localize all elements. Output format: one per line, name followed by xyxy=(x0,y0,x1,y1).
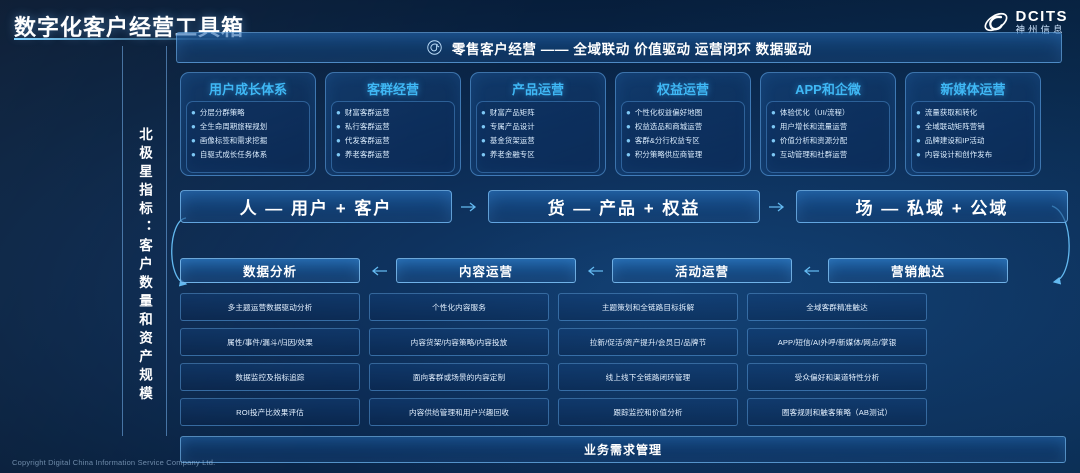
grid-cell[interactable]: 内容供给管理和用户兴趣回收 xyxy=(369,398,549,426)
card-bullet: ●流量获取和转化 xyxy=(916,107,1031,118)
card-bullet: ●全域联动矩阵营销 xyxy=(916,121,1031,132)
banner: 零售客户经营 —— 全域联动 价值驱动 运营闭环 数据驱动 xyxy=(176,32,1062,63)
arrow-left-icon xyxy=(801,265,819,277)
card-user-growth[interactable]: 用户成长体系 ●分层分群策略 ●全生命周期旅程规划 ●画像标签和需求挖掘 ●自驱… xyxy=(180,72,316,176)
grid-cell[interactable]: 多主题运营数据驱动分析 xyxy=(180,293,360,321)
card-body: ●财富产品矩阵 ●专属产品设计 ●基金货架运营 ●养老金融专区 xyxy=(476,101,600,173)
card-bullet: ●基金货架运营 xyxy=(481,135,596,146)
arrow-right-icon xyxy=(769,201,787,213)
card-bullet: ●客群&分行权益专区 xyxy=(626,135,741,146)
grid-cell[interactable]: APP/短信/AI外呼/新媒体/网点/掌银 xyxy=(747,328,927,356)
grid-cell[interactable]: 线上线下全链路闭环管理 xyxy=(558,363,738,391)
bullet-dot-icon: ● xyxy=(336,149,341,160)
card-bullet: ●价值分析和资源分配 xyxy=(771,135,886,146)
card-product-operation[interactable]: 产品运营 ●财富产品矩阵 ●专属产品设计 ●基金货架运营 ●养老金融专区 xyxy=(470,72,606,176)
card-bullet: ●代发客群运营 xyxy=(336,135,451,146)
card-app-wecom[interactable]: APP和企微 ●体验优化（UI/流程） ●用户增长和流量运营 ●价值分析和资源分… xyxy=(760,72,896,176)
pillars-row: 人 — 用户 + 客户 货 — 产品 + 权益 场 — 私域 + 公域 xyxy=(180,190,1068,223)
grid-cell[interactable]: 圈客规则和触客策略（AB测试） xyxy=(747,398,927,426)
card-bullet: ●全生命周期旅程规划 xyxy=(191,121,306,132)
bullet-dot-icon: ● xyxy=(916,135,921,146)
bullet-dot-icon: ● xyxy=(916,107,921,118)
card-bullet: ●权益选品和商城运营 xyxy=(626,121,741,132)
card-body: ●财富客群运营 ●私行客群运营 ●代发客群运营 ●养老客群运营 xyxy=(331,101,455,173)
bullet-dot-icon: ● xyxy=(481,149,486,160)
card-title: 产品运营 xyxy=(476,78,600,99)
bullet-text: 财富客群运营 xyxy=(345,107,390,118)
slide-canvas: 数字化客户经营工具箱 DCITS 神州信息 北极星指标：客户数量和资产规模 xyxy=(0,0,1080,473)
bullet-text: 价值分析和资源分配 xyxy=(780,135,847,146)
card-body: ●流量获取和转化 ●全域联动矩阵营销 ●品牌建设和IP活动 ●内容设计和创作发布 xyxy=(911,101,1035,173)
bullet-dot-icon: ● xyxy=(191,121,196,132)
grid-cell[interactable]: 数据监控及指标追踪 xyxy=(180,363,360,391)
card-bullet: ●内容设计和创作发布 xyxy=(916,149,1031,160)
card-new-media[interactable]: 新媒体运营 ●流量获取和转化 ●全域联动矩阵营销 ●品牌建设和IP活动 ●内容设… xyxy=(905,72,1041,176)
northstar-rule-left xyxy=(122,46,123,436)
bullet-text: 自驱式成长任务体系 xyxy=(200,149,267,160)
grid-cell[interactable]: 拉新/促活/资产提升/会员日/品牌节 xyxy=(558,328,738,356)
bullet-text: 品牌建设和IP活动 xyxy=(925,135,985,146)
card-title: 新媒体运营 xyxy=(911,78,1035,99)
bullet-text: 积分策略供应商管理 xyxy=(635,149,702,160)
arrow-left-icon xyxy=(369,265,387,277)
grid-cell[interactable]: ROI投产比效果评估 xyxy=(180,398,360,426)
bullet-text: 互动管理和社群运营 xyxy=(780,149,847,160)
bullet-text: 代发客群运营 xyxy=(345,135,390,146)
grid-column-campaign-operation: 主题策划和全链路目标拆解 拉新/促活/资产提升/会员日/品牌节 线上线下全链路闭… xyxy=(558,293,738,426)
copyright-text: Copyright Digital China Information Serv… xyxy=(12,458,215,467)
card-title: 用户成长体系 xyxy=(186,78,310,99)
grid-column-marketing-reach: 全域客群精准触达 APP/短信/AI外呼/新媒体/网点/掌银 受众偏好和渠道特性… xyxy=(747,293,927,426)
logo-text-en: DCITS xyxy=(1016,9,1069,24)
grid-cell[interactable]: 跟踪监控和价值分析 xyxy=(558,398,738,426)
bullet-dot-icon: ● xyxy=(336,107,341,118)
bullet-dot-icon: ● xyxy=(771,135,776,146)
bullet-text: 内容设计和创作发布 xyxy=(925,149,992,160)
bullet-dot-icon: ● xyxy=(336,121,341,132)
column-headers-row: 数据分析 内容运营 活动运营 营销触达 xyxy=(180,258,1008,283)
bullet-text: 分层分群策略 xyxy=(200,107,245,118)
card-title: 权益运营 xyxy=(621,78,745,99)
capability-grid: 多主题运营数据驱动分析 属性/事件/漏斗/归因/效果 数据监控及指标追踪 ROI… xyxy=(180,293,927,426)
card-bullet: ●专属产品设计 xyxy=(481,121,596,132)
bullet-dot-icon: ● xyxy=(916,149,921,160)
grid-cell[interactable]: 全域客群精准触达 xyxy=(747,293,927,321)
arrow-right-icon xyxy=(461,201,479,213)
bullet-dot-icon: ● xyxy=(191,149,196,160)
card-bullet: ●自驱式成长任务体系 xyxy=(191,149,306,160)
content-stage: 零售客户经营 —— 全域联动 价值驱动 运营闭环 数据驱动 用户成长体系 ●分层… xyxy=(176,32,1066,464)
card-bullet: ●品牌建设和IP活动 xyxy=(916,135,1031,146)
bullet-text: 画像标签和需求挖掘 xyxy=(200,135,267,146)
card-title: 客群经营 xyxy=(331,78,455,99)
bullet-text: 权益选品和商城运营 xyxy=(635,121,702,132)
grid-column-content-operation: 个性化内容服务 内容货架/内容策略/内容投放 面向客群或场景的内容定制 内容供给… xyxy=(369,293,549,426)
card-bullet: ●体验优化（UI/流程） xyxy=(771,107,886,118)
card-body: ●分层分群策略 ●全生命周期旅程规划 ●画像标签和需求挖掘 ●自驱式成长任务体系 xyxy=(186,101,310,173)
grid-column-data-analysis: 多主题运营数据驱动分析 属性/事件/漏斗/归因/效果 数据监控及指标追踪 ROI… xyxy=(180,293,360,426)
bullet-text: 个性化权益偏好地图 xyxy=(635,107,702,118)
card-bullet: ●养老金融专区 xyxy=(481,149,596,160)
arrow-left-icon xyxy=(585,265,603,277)
grid-cell[interactable]: 面向客群或场景的内容定制 xyxy=(369,363,549,391)
column-header-content-operation[interactable]: 内容运营 xyxy=(396,258,576,283)
card-bullet: ●积分策略供应商管理 xyxy=(626,149,741,160)
capability-cards-row: 用户成长体系 ●分层分群策略 ●全生命周期旅程规划 ●画像标签和需求挖掘 ●自驱… xyxy=(180,72,1041,176)
bottom-bar-demand-management[interactable]: 业务需求管理 xyxy=(180,436,1066,463)
bullet-text: 专属产品设计 xyxy=(490,121,535,132)
bullet-text: 体验优化（UI/流程） xyxy=(780,107,850,118)
grid-cell[interactable]: 主题策划和全链路目标拆解 xyxy=(558,293,738,321)
pillar-field[interactable]: 场 — 私域 + 公域 xyxy=(796,190,1068,223)
bullet-dot-icon: ● xyxy=(191,107,196,118)
grid-cell[interactable]: 个性化内容服务 xyxy=(369,293,549,321)
card-bullet: ●用户增长和流量运营 xyxy=(771,121,886,132)
grid-cell[interactable]: 内容货架/内容策略/内容投放 xyxy=(369,328,549,356)
bullet-text: 养老客群运营 xyxy=(345,149,390,160)
card-rights-operation[interactable]: 权益运营 ●个性化权益偏好地图 ●权益选品和商城运营 ●客群&分行权益专区 ●积… xyxy=(615,72,751,176)
bullet-dot-icon: ● xyxy=(481,107,486,118)
card-body: ●个性化权益偏好地图 ●权益选品和商城运营 ●客群&分行权益专区 ●积分策略供应… xyxy=(621,101,745,173)
bullet-text: 私行客群运营 xyxy=(345,121,390,132)
column-header-campaign-operation[interactable]: 活动运营 xyxy=(612,258,792,283)
bullet-dot-icon: ● xyxy=(336,135,341,146)
bullet-dot-icon: ● xyxy=(771,121,776,132)
bullet-text: 财富产品矩阵 xyxy=(490,107,535,118)
grid-cell[interactable]: 受众偏好和渠道特性分析 xyxy=(747,363,927,391)
card-bullet: ●私行客群运营 xyxy=(336,121,451,132)
card-bullet: ●分层分群策略 xyxy=(191,107,306,118)
bullet-text: 基金货架运营 xyxy=(490,135,535,146)
bullet-text: 全域联动矩阵营销 xyxy=(925,121,985,132)
card-customer-group[interactable]: 客群经营 ●财富客群运营 ●私行客群运营 ●代发客群运营 ●养老客群运营 xyxy=(325,72,461,176)
spiral-icon xyxy=(426,39,443,56)
bullet-dot-icon: ● xyxy=(626,149,631,160)
bullet-text: 全生命周期旅程规划 xyxy=(200,121,267,132)
bullet-dot-icon: ● xyxy=(771,107,776,118)
card-bullet: ●财富客群运营 xyxy=(336,107,451,118)
grid-cell[interactable]: 属性/事件/漏斗/归因/效果 xyxy=(180,328,360,356)
bullet-dot-icon: ● xyxy=(481,135,486,146)
column-header-marketing-reach[interactable]: 营销触达 xyxy=(828,258,1008,283)
card-title: APP和企微 xyxy=(766,78,890,99)
card-body: ●体验优化（UI/流程） ●用户增长和流量运营 ●价值分析和资源分配 ●互动管理… xyxy=(766,101,890,173)
bullet-dot-icon: ● xyxy=(481,121,486,132)
pillar-people[interactable]: 人 — 用户 + 客户 xyxy=(180,190,452,223)
banner-text: 零售客户经营 —— 全域联动 价值驱动 运营闭环 数据驱动 xyxy=(452,38,812,58)
card-bullet: ●个性化权益偏好地图 xyxy=(626,107,741,118)
bullet-dot-icon: ● xyxy=(916,121,921,132)
bullet-dot-icon: ● xyxy=(626,107,631,118)
pillar-goods[interactable]: 货 — 产品 + 权益 xyxy=(488,190,760,223)
bullet-text: 养老金融专区 xyxy=(490,149,535,160)
bullet-text: 流量获取和转化 xyxy=(925,107,977,118)
card-bullet: ●财富产品矩阵 xyxy=(481,107,596,118)
bullet-dot-icon: ● xyxy=(191,135,196,146)
bullet-dot-icon: ● xyxy=(626,135,631,146)
card-bullet: ●养老客群运营 xyxy=(336,149,451,160)
column-header-data-analysis[interactable]: 数据分析 xyxy=(180,258,360,283)
northstar-rule-right xyxy=(166,46,167,436)
northstar-label: 北极星指标：客户数量和资产规模 xyxy=(131,96,157,436)
card-bullet: ●互动管理和社群运营 xyxy=(771,149,886,160)
bullet-dot-icon: ● xyxy=(626,121,631,132)
bullet-text: 客群&分行权益专区 xyxy=(635,135,700,146)
bullet-text: 用户增长和流量运营 xyxy=(780,121,847,132)
card-bullet: ●画像标签和需求挖掘 xyxy=(191,135,306,146)
bullet-dot-icon: ● xyxy=(771,149,776,160)
